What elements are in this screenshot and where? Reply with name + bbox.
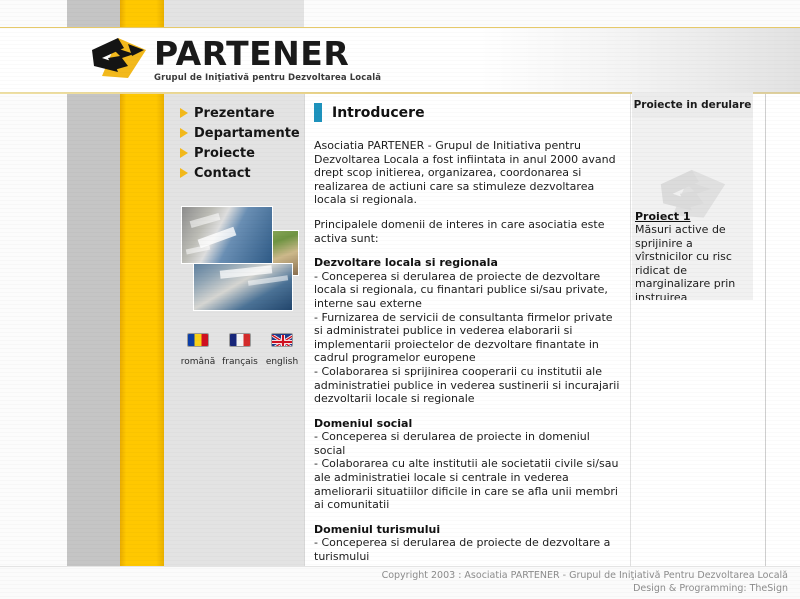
page-root: PARTENER Grupul de Iniţiativă pentru Dez…	[0, 0, 800, 599]
nav-item-contact[interactable]: Contact	[180, 163, 300, 183]
sidebar-body: Proiect 1 Măsuri active de sprijinire a …	[632, 118, 753, 300]
page-footer: Copyright 2003 : Asociatia PARTENER - Gr…	[0, 566, 800, 599]
nav-item-prezentare[interactable]: Prezentare	[180, 103, 300, 123]
triangle-right-icon	[180, 168, 188, 178]
aerial-harbor-photo	[181, 206, 273, 264]
title-accent-bar-icon	[314, 103, 322, 122]
logo-tagline: Grupul de Iniţiativă pentru Dezvoltarea …	[154, 73, 381, 83]
page-title: Introducere	[332, 105, 425, 121]
nav-label: Proiecte	[194, 146, 255, 161]
nav-item-departamente[interactable]: Departamente	[180, 123, 300, 143]
language-switcher: română français english	[180, 333, 300, 368]
section-heading: Domeniul social	[314, 417, 620, 431]
flag-uk-icon	[271, 333, 293, 347]
section-body: - Conceperea si derularea de proiecte de…	[314, 270, 620, 406]
sidebar-header: Proiecte in derulare	[632, 92, 753, 118]
partener-logo-icon	[88, 36, 150, 82]
flag-romania-icon	[187, 333, 209, 347]
triangle-right-icon	[180, 148, 188, 158]
logo-wordmark: PARTENER	[154, 36, 381, 72]
language-label: français	[222, 357, 258, 367]
nav-item-proiecte[interactable]: Proiecte	[180, 143, 300, 163]
content-section-dezvoltare: Dezvoltare locala si regionala - Concepe…	[314, 256, 620, 406]
content-section-social: Domeniul social - Conceperea si derulare…	[314, 417, 620, 512]
language-option-english[interactable]: english	[264, 333, 300, 368]
footer-text: Copyright 2003 : Asociatia PARTENER - Gr…	[382, 569, 788, 595]
language-label: română	[181, 357, 216, 367]
language-label: english	[266, 357, 298, 367]
section-heading: Domeniul turismului	[314, 523, 620, 537]
top-block-gray	[67, 0, 120, 27]
page-title-row: Introducere	[314, 103, 620, 122]
top-block-yellow	[120, 0, 164, 27]
primary-navigation: Prezentare Departamente Proiecte Contact	[180, 103, 300, 183]
triangle-right-icon	[180, 128, 188, 138]
intro-paragraph: Asociatia PARTENER - Grupul de Initiativ…	[314, 139, 620, 207]
site-logo[interactable]: PARTENER Grupul de Iniţiativă pentru Dez…	[88, 36, 381, 83]
section-body: - Conceperea si derularea de proiecte in…	[314, 430, 620, 512]
sidebar-heading: Proiecte in derulare	[634, 99, 752, 111]
photo-collage	[181, 206, 299, 316]
main-content: Introducere Asociatia PARTENER - Grupul …	[314, 103, 620, 599]
nav-label: Prezentare	[194, 106, 275, 121]
footer-credits: Design & Programming: TheSign	[382, 582, 788, 595]
footer-copyright: Copyright 2003 : Asociatia PARTENER - Gr…	[382, 569, 788, 582]
dock-waterfront-photo	[193, 263, 293, 311]
top-block-light-gray	[164, 0, 304, 27]
sidebar-project-entry[interactable]: Proiect 1 Măsuri active de sprijinire a …	[635, 210, 750, 300]
section-heading: Dezvoltare locala si regionala	[314, 256, 620, 270]
project-description: Măsuri active de sprijinire a vîrstnicil…	[635, 223, 750, 300]
lead-paragraph: Principalele domenii de interes in care …	[314, 218, 620, 245]
projects-sidebar: Proiecte in derulare Proiect 1 Măsuri ac…	[632, 92, 753, 300]
header-top-rule	[0, 27, 800, 28]
flag-france-icon	[229, 333, 251, 347]
language-option-francais[interactable]: français	[222, 333, 258, 368]
nav-label: Departamente	[194, 126, 300, 141]
triangle-right-icon	[180, 108, 188, 118]
language-option-romana[interactable]: română	[180, 333, 216, 368]
footer-divider	[0, 566, 800, 567]
nav-label: Contact	[194, 166, 251, 181]
project-title-link[interactable]: Proiect 1	[635, 210, 750, 223]
